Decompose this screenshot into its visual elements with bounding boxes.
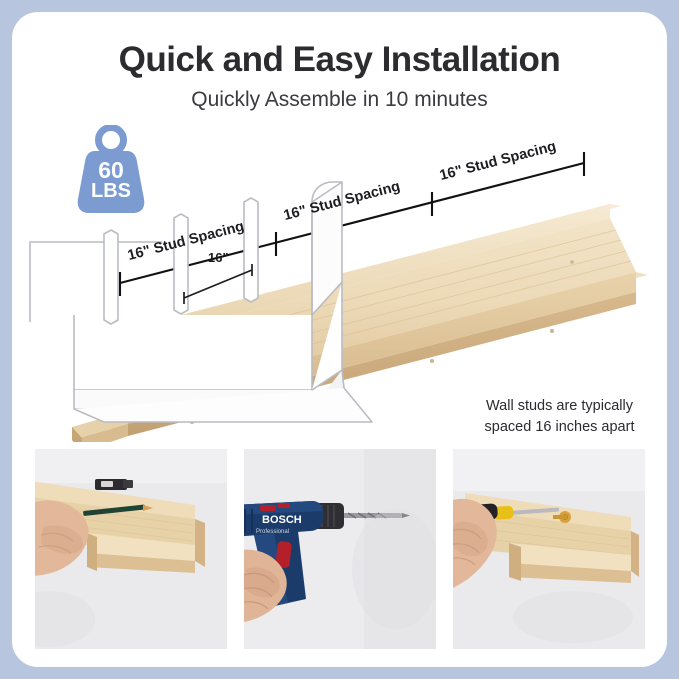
drill-brand-label: BOSCH bbox=[262, 514, 302, 526]
page-title: Quick and Easy Installation bbox=[12, 40, 667, 80]
photo-marking-with-pencil bbox=[35, 449, 227, 649]
product-info-card: Quick and Easy Installation Quickly Asse… bbox=[12, 12, 667, 667]
stud-measure-label: 16" bbox=[208, 250, 229, 265]
page-subtitle: Quickly Assemble in 10 minutes bbox=[12, 88, 667, 112]
stud-caption-line-1: Wall studs are typically bbox=[452, 396, 667, 417]
install-steps-photo-strip: BOSCH Professional bbox=[35, 449, 645, 649]
wall-stud-diagram: 16" bbox=[30, 182, 372, 422]
drill-brand-sub-label: Professional bbox=[256, 529, 289, 535]
photo-driving-screw bbox=[453, 449, 645, 649]
photo-drilling-hole: BOSCH Professional bbox=[244, 449, 436, 649]
stud-caption-line-2: spaced 16 inches apart bbox=[452, 417, 667, 438]
shelf-illustration: 16" 16" Stud Spacing 16" Stud Spacing 16… bbox=[12, 122, 667, 442]
stud-diagram-caption: Wall studs are typically spaced 16 inche… bbox=[452, 396, 667, 437]
